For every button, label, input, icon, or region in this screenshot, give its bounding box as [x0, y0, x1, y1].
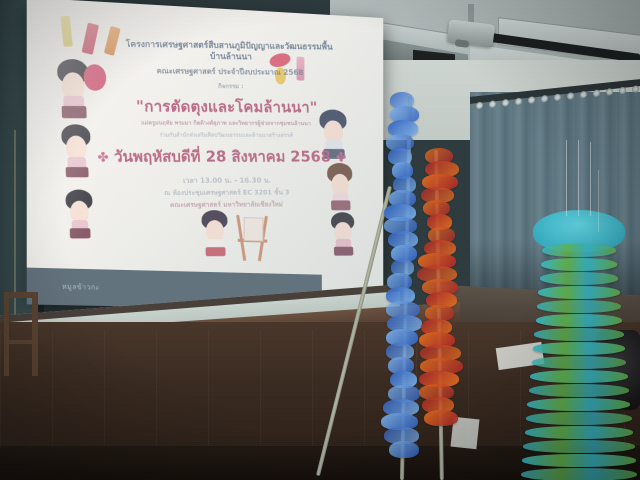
slide-balloon-magenta: [84, 64, 107, 91]
lantern-hanging-wire-3: [590, 142, 591, 216]
slide-tung-yellow: [60, 16, 72, 47]
slide-tung-red: [82, 23, 99, 55]
curtain-grommet: [502, 99, 509, 107]
curtain-grommet: [606, 88, 613, 96]
slide-date-text: วันพฤหัสบดีที่ 28 สิงหาคม 2568: [114, 147, 332, 165]
slide-tung-orange: [104, 26, 121, 56]
wooden-stool: [4, 292, 40, 376]
slide-date-row: ✤ วันพฤหัสบดีที่ 28 สิงหาคม 2568 ✤: [86, 146, 356, 167]
lantern-ring: [525, 426, 633, 439]
slide-character-left-3: [65, 190, 93, 239]
lantern-ring: [530, 370, 628, 383]
lantern-ring: [537, 300, 621, 313]
projection-screen: โครงการเศรษฐศาสตร์สืบสานภูมิปัญญาและวัฒน…: [27, 0, 384, 311]
curtain-grommet: [619, 87, 626, 95]
tung-segment: [424, 410, 458, 426]
lantern-ring: [527, 398, 630, 411]
slide-kicker: กิจกรรม :: [121, 82, 337, 92]
slide-byline-2: ร่วมกับสำนักส่งเสริมศิลปวัฒนธรรมและล้านน…: [101, 132, 349, 140]
tung-segment: [389, 441, 419, 458]
lantern-ring: [542, 244, 615, 257]
slide-time: เวลา 13.00 น. - 16.30 น.: [119, 176, 332, 186]
curtain-grommet: [476, 102, 483, 110]
flower-right-icon: ✤: [336, 151, 347, 166]
tung-banner-blue: [385, 92, 419, 462]
screen-band-label: หมูลข้าวกะ: [62, 282, 100, 294]
flower-left-icon: ✤: [97, 150, 109, 165]
curtain-grommet: [489, 100, 496, 108]
photo-scene: โครงการเศรษฐศาสตร์สืบสานภูมิปัญญาและวัฒน…: [0, 0, 640, 480]
lantern-ring: [536, 314, 623, 327]
tung-banner-orange: [419, 148, 459, 448]
slide-character-center: [201, 210, 228, 256]
slide-organizer: คณะเศรษฐศาสตร์ มหาวิทยาลัยเชียงใหม่: [95, 200, 355, 210]
lantern-ring: [522, 454, 636, 467]
lantern-ring: [529, 384, 629, 397]
slide-venue: ณ ห้องประชุมเศรษฐศาสตร์ EC 3201 ชั้น 3: [109, 188, 342, 198]
curtain-grommet: [541, 95, 548, 103]
curtain-grommet: [567, 92, 574, 100]
lantern-hanging-wire-1: [566, 140, 567, 216]
lantern-ring: [521, 468, 638, 480]
lantern-ring: [532, 356, 627, 369]
slide-easel-icon: [236, 215, 269, 262]
slide-title: "การตัดตุงและโคมล้านนา": [107, 96, 345, 118]
slide-byline-1: แม่ครูมนฤทัย พรมมา กิตติวงศ์สุภาพ และวิท…: [101, 120, 349, 128]
curtain-grommet: [580, 91, 587, 99]
lantern-body-teal: [520, 244, 638, 480]
slide-header-line1: โครงการเศรษฐศาสตร์สืบสานภูมิปัญญาและวัฒน…: [121, 40, 338, 66]
curtain-grommet: [632, 85, 639, 93]
slide-header-line2: คณะเศรษฐศาสตร์ ประจำปีงบประมาณ 2568: [121, 66, 337, 78]
lantern-ring: [526, 412, 632, 425]
lantern-ring: [540, 272, 619, 285]
lantern-hanging-wire-2: [578, 140, 579, 216]
slide-character-left-1: [57, 59, 90, 118]
curtain-grommet: [528, 96, 535, 104]
lantern-ring: [534, 328, 623, 341]
lantern-ring: [538, 286, 619, 299]
lantern-ring: [533, 342, 625, 355]
projected-slide: โครงการเศรษฐศาสตร์สืบสานภูมิปัญญาและวัฒน…: [27, 0, 384, 311]
lantern-ring: [541, 258, 617, 271]
tie-string: [598, 170, 599, 232]
curtain-grommet: [515, 98, 522, 106]
slide-character-right-3: [331, 212, 356, 255]
curtain-grommet: [593, 89, 600, 97]
curtain-grommet: [554, 93, 561, 101]
lantern-ring: [523, 440, 634, 453]
